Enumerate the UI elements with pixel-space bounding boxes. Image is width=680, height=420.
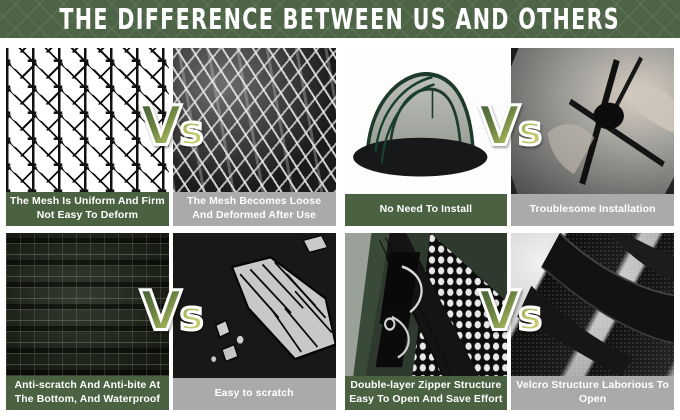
comparison-pair-bottom-material: Anti-scratch And Anti-bite At The Bottom…: [6, 233, 336, 411]
vs-badge-installation: Vs: [478, 105, 540, 148]
caption-uniform-firm-mesh: The Mesh Is Uniform And Firm Not Easy To…: [6, 192, 169, 226]
comparison-grid: The Mesh Is Uniform And Firm Not Easy To…: [0, 42, 680, 416]
vs-badge-closure: Vs: [478, 289, 540, 332]
vs-letter-s: s: [180, 293, 202, 339]
vs-letter-v: V: [478, 279, 518, 342]
caption-anti-scratch-bottom: Anti-scratch And Anti-bite At The Bottom…: [6, 376, 169, 410]
header-banner: The Difference Between Us And Others: [0, 0, 680, 38]
caption-no-need-to-install: No Need To Install: [345, 194, 508, 226]
vs-badge-mesh-quality: Vs: [140, 105, 202, 148]
caption-double-layer-zipper: Double-layer Zipper Structure Easy To Op…: [345, 376, 508, 410]
caption-velcro-structure: Velcro Structure Laborious To Open: [511, 376, 674, 410]
vs-letter-v: V: [140, 95, 180, 158]
comparison-pair-installation: No Need To Install Troublesome Installat…: [345, 48, 675, 226]
caption-loose-deformed-mesh: The Mesh Becomes Loose And Deformed Afte…: [173, 192, 336, 226]
vs-badge-bottom-material: Vs: [140, 289, 202, 332]
vs-letter-v: V: [140, 279, 180, 342]
vs-letter-s: s: [180, 109, 202, 155]
comparison-infographic: The Difference Between Us And Others The…: [0, 0, 680, 420]
caption-easy-to-scratch: Easy to scratch: [173, 378, 336, 410]
vs-letter-v: V: [478, 95, 518, 158]
vs-letter-s: s: [518, 293, 540, 339]
comparison-pair-closure: Double-layer Zipper Structure Easy To Op…: [345, 233, 675, 411]
comparison-pair-mesh-quality: The Mesh Is Uniform And Firm Not Easy To…: [6, 48, 336, 226]
page-title: The Difference Between Us And Others: [60, 5, 621, 34]
caption-troublesome-installation: Troublesome Installation: [511, 194, 674, 226]
vs-letter-s: s: [518, 109, 540, 155]
